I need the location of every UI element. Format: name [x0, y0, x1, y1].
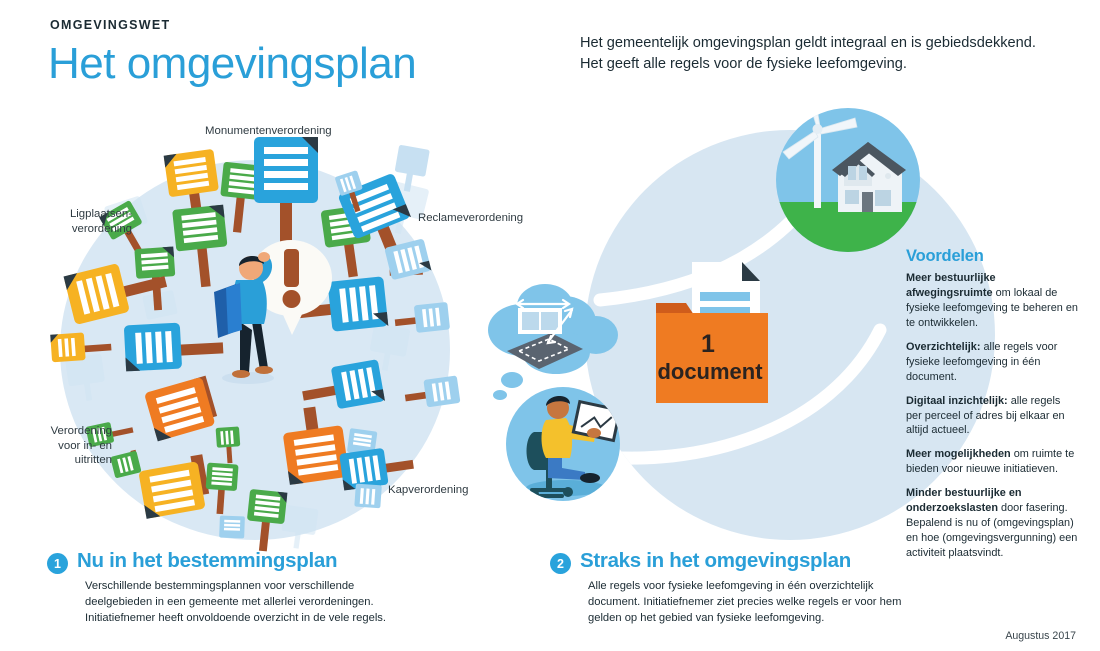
label-kapverordening: Kapverordening [388, 483, 468, 498]
voordelen-title: Voordelen [906, 247, 1078, 266]
intro-line-2: Het geeft alle regels voor de fysieke le… [580, 56, 907, 72]
label-ligplaatsen-line2: verordening [72, 223, 132, 235]
intro-line-1: Het gemeentelijk omgevingsplan geldt int… [580, 35, 1036, 51]
folder-word: document [657, 359, 763, 384]
voordeel-item-1-lead: Meer bestuurlijke afwegingsruimte [906, 272, 996, 299]
label-ligplaatsen-line1: Ligplaatsen- [70, 208, 132, 220]
step-2-body: Alle regels voor fysieke leefomgeving in… [588, 579, 908, 627]
voordeel-item-2: Overzichtelijk: alle regels voor fysieke… [906, 340, 1078, 385]
voordeel-item-4-lead: Meer mogelijkheden [906, 448, 1011, 460]
sign-paleblue-bottom [219, 516, 245, 539]
voordeel-item-1: Meer bestuurlijke afwegingsruimte om lok… [906, 271, 1078, 331]
step-2-number: 2 [550, 553, 571, 574]
voordeel-item-5: Minder bestuurlijke en onderzoekslasten … [906, 486, 1078, 561]
sign-paleblue-br [354, 484, 382, 509]
voordelen-list: Meer bestuurlijke afwegingsruimte om lok… [906, 271, 1078, 561]
document-folder: 1 document [656, 303, 768, 403]
voordeel-item-3-lead: Digitaal inzichtelijk: [906, 395, 1008, 407]
intro-paragraph: Het gemeentelijk omgevingsplan geldt int… [580, 33, 1060, 74]
label-uitritten-line3: uitritten [75, 454, 112, 466]
label-uitritten-line1: Verordening [51, 425, 112, 437]
kicker-label: OMGEVINGSWET [50, 18, 170, 32]
footer-date: Augustus 2017 [1005, 630, 1076, 642]
label-uitrittenverordening: Verordening voor in- en uitritten [22, 424, 112, 468]
page-title: Het omgevingsplan [48, 40, 416, 88]
step-1-body: Verschillende bestemmingsplannen voor ve… [85, 579, 405, 627]
label-reclameverordening: Reclameverordening [418, 211, 523, 226]
voordelen-panel: Voordelen Meer bestuurlijke afwegingsrui… [906, 247, 1078, 570]
step-1-number: 1 [47, 553, 68, 574]
voordeel-item-2-lead: Overzichtelijk: [906, 341, 980, 353]
folder-count: 1 [701, 330, 715, 358]
step-2-title: Straks in het omgevingsplan [580, 549, 851, 573]
label-ligplaatsenverordening: Ligplaatsen- verordening [32, 207, 132, 236]
infographic-canvas: 1 document [0, 0, 1100, 651]
voordeel-item-3: Digitaal inzichtelijk: alle regels per p… [906, 394, 1078, 439]
label-uitritten-line2: voor in- en [58, 440, 112, 452]
step-1-title: Nu in het bestemmingsplan [77, 549, 337, 573]
label-monumentenverordening: Monumentenverordening [205, 124, 332, 139]
voordeel-item-4: Meer mogelijkheden om ruimte te bieden v… [906, 447, 1078, 477]
